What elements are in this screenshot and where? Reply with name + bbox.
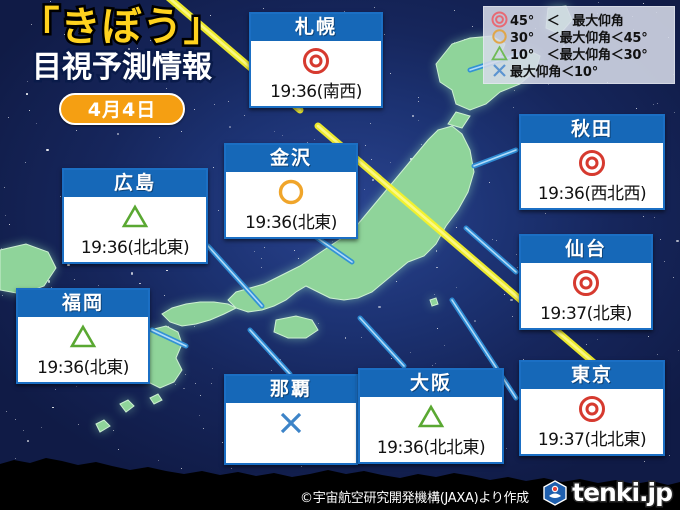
city-card-hiroshima[interactable]: 広島19:36(北北東)	[62, 168, 208, 264]
cross-blue-icon	[489, 62, 510, 79]
legend-row: 30° ＜最大仰角＜45°	[489, 28, 669, 45]
circle-orange-icon	[230, 177, 352, 207]
city-card-body: 19:36(南西)	[251, 41, 381, 106]
city-card-body	[226, 403, 356, 463]
legend-label: 最大仰角＜10°	[510, 61, 598, 80]
triangle-green-icon	[68, 202, 202, 232]
jaxa-credit: ©宇宙航空研究開発機構(JAXA)より作成	[300, 487, 529, 506]
city-card-body: 19:36(北北東)	[360, 397, 502, 462]
page-subtitle: 目視予測情報	[12, 51, 232, 85]
city-card-fukuoka[interactable]: 福岡19:36(北東)	[16, 288, 150, 384]
double-circle-red-icon	[525, 394, 659, 424]
circle-orange-icon	[489, 28, 510, 45]
city-card-body: 19:37(北北東)	[521, 389, 663, 454]
legend-row: 10° ＜最大仰角＜30°	[489, 45, 669, 62]
city-name: 福岡	[18, 290, 148, 317]
city-card-body: 19:36(北東)	[18, 317, 148, 382]
infographic-root: 「きぼう」 目視予測情報 4月4日 45° ＜ 最大仰角 30° ＜最大仰角＜4…	[0, 0, 680, 510]
city-name: 大阪	[360, 370, 502, 397]
city-name: 東京	[521, 362, 663, 389]
legend-panel: 45° ＜ 最大仰角 30° ＜最大仰角＜45° 10° ＜最大仰角＜30°	[483, 6, 675, 84]
pass-time: 19:36(南西)	[255, 77, 377, 102]
double-circle-red-icon	[489, 11, 510, 28]
pass-time: 19:36(北北東)	[364, 433, 498, 458]
pass-time: 19:36(北東)	[230, 208, 352, 233]
city-name: 広島	[64, 170, 206, 197]
triangle-green-icon	[22, 322, 144, 352]
city-name: 仙台	[521, 236, 651, 263]
city-card-tokyo[interactable]: 東京19:37(北北東)	[519, 360, 665, 456]
pass-time: 19:37(北東)	[525, 299, 647, 324]
pass-time: 19:37(北北東)	[525, 425, 659, 450]
city-card-sendai[interactable]: 仙台19:37(北東)	[519, 234, 653, 330]
city-card-body: 19:37(北東)	[521, 263, 651, 328]
tenki-logo-icon	[542, 480, 568, 506]
triangle-green-icon	[489, 45, 510, 62]
city-card-osaka[interactable]: 大阪19:36(北北東)	[358, 368, 504, 464]
pass-time	[230, 439, 352, 459]
tenki-logo-text: tenki.jp	[572, 478, 672, 507]
pass-time: 19:36(西北西)	[525, 179, 659, 204]
date-badge: 4月4日	[59, 93, 185, 125]
cross-blue-icon	[230, 408, 352, 438]
pass-time: 19:36(北北東)	[68, 233, 202, 258]
double-circle-red-icon	[255, 46, 377, 76]
page-title: 「きぼう」	[12, 6, 232, 49]
double-circle-red-icon	[525, 268, 647, 298]
city-name: 札幌	[251, 14, 381, 41]
city-card-body: 19:36(北北東)	[64, 197, 206, 262]
tenki-logo[interactable]: tenki.jp	[542, 478, 672, 507]
title-block: 「きぼう」 目視予測情報 4月4日	[12, 6, 232, 125]
city-card-body: 19:36(西北西)	[521, 143, 663, 208]
double-circle-red-icon	[525, 148, 659, 178]
city-card-sapporo[interactable]: 札幌19:36(南西)	[249, 12, 383, 108]
city-card-akita[interactable]: 秋田19:36(西北西)	[519, 114, 665, 210]
triangle-green-icon	[364, 402, 498, 432]
legend-row: 45° ＜ 最大仰角	[489, 11, 669, 28]
city-name: 秋田	[521, 116, 663, 143]
city-card-naha[interactable]: 那覇	[224, 374, 358, 465]
city-name: 那覇	[226, 376, 356, 403]
city-card-kanazawa[interactable]: 金沢19:36(北東)	[224, 143, 358, 239]
city-card-body: 19:36(北東)	[226, 172, 356, 237]
pass-time: 19:36(北東)	[22, 353, 144, 378]
legend-row: 最大仰角＜10°	[489, 62, 669, 79]
city-name: 金沢	[226, 145, 356, 172]
